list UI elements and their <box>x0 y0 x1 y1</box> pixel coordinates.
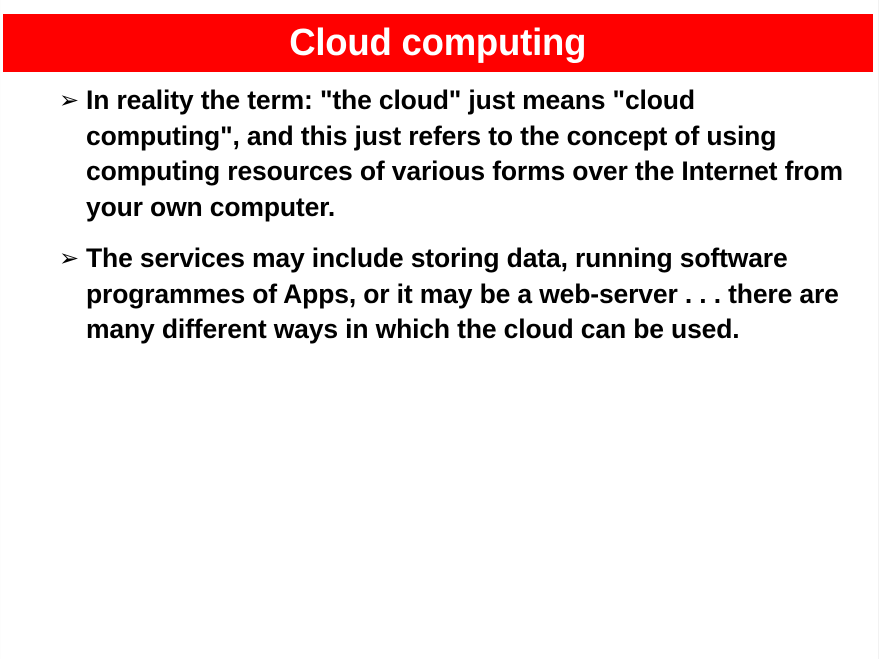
page-title: Cloud computing <box>289 24 586 62</box>
list-item-text: The services may include storing data, r… <box>86 241 849 348</box>
list-item: ➢ The services may include storing data,… <box>59 241 849 348</box>
list-item-text: In reality the term: "the cloud" just me… <box>86 83 849 225</box>
title-banner: Cloud computing <box>3 14 873 72</box>
arrowhead-bullet-icon: ➢ <box>59 83 86 119</box>
slide-canvas: Cloud computing ➢ In reality the term: "… <box>0 0 879 659</box>
bullet-list: ➢ In reality the term: "the cloud" just … <box>59 83 849 348</box>
arrowhead-bullet-icon: ➢ <box>59 241 86 277</box>
list-item: ➢ In reality the term: "the cloud" just … <box>59 83 849 225</box>
